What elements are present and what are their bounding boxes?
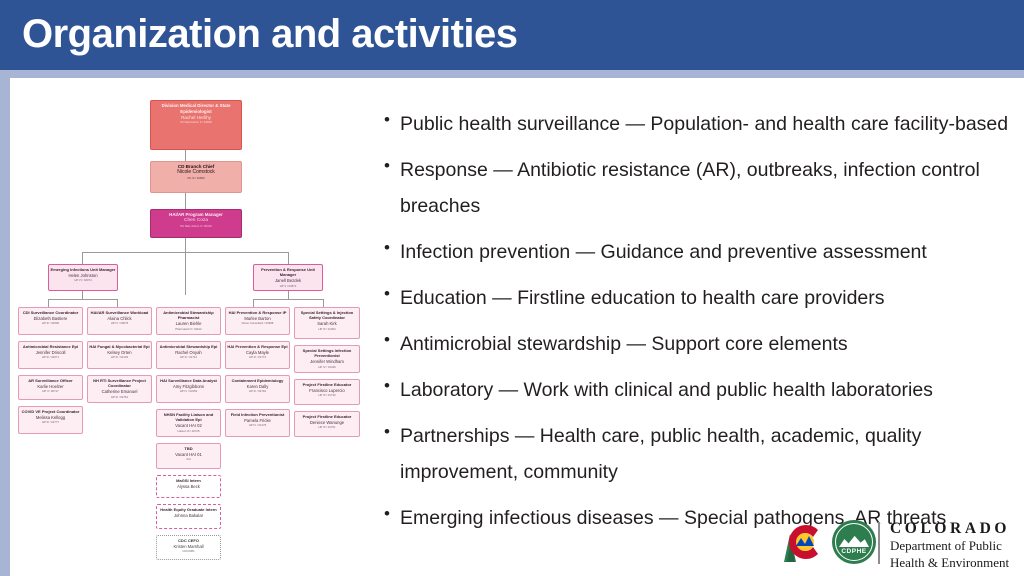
org-node-title: Division Medical Director & State Epidem… xyxy=(152,103,240,114)
org-node-hai-ar-program-manager[interactable]: HAI/AR Program Manager Chen Coza PH Misc… xyxy=(150,209,242,238)
logo-divider xyxy=(878,522,880,564)
org-node-code: HP III / 01739 xyxy=(296,393,358,397)
connector-line xyxy=(288,291,289,299)
org-node-cdi-surveillance-coordinator[interactable]: CDI Surveillance Coordinator Elizabeth B… xyxy=(18,307,83,335)
connector-line xyxy=(82,291,83,299)
org-node-project-firstline-educator-1[interactable]: Project Firstline Educator Francisco Lup… xyxy=(294,379,360,405)
connector-line xyxy=(48,299,49,307)
org-node-hai-surveillance-data-analyst[interactable]: HAI Surveillance Data Analyst Amy Fitzgi… xyxy=(156,375,221,403)
org-node-code: Liaison III / 02725 xyxy=(158,429,219,433)
list-item: • Antimicrobial stewardship — Support co… xyxy=(378,326,1018,362)
org-node-code: HP III / 02071 xyxy=(20,355,81,359)
org-node-code: HP III / 01761 xyxy=(296,425,358,429)
org-node-code: CDC0081 xyxy=(158,549,219,553)
org-node-code: HP III / 01774 xyxy=(227,355,288,359)
bullet-text: Response — Antibiotic resistance (AR), o… xyxy=(400,152,1018,224)
bullet-marker: • xyxy=(378,500,400,527)
cdphe-logo-lockup: CDPHE COLORADO Department of Public Heal… xyxy=(782,518,1016,570)
org-node-title: TBD xyxy=(158,446,219,451)
org-node-antimicrobial-resistance-epi[interactable]: Antimicrobial Resistance Epi Jennifer Dr… xyxy=(18,341,83,369)
bullet-marker: • xyxy=(378,106,400,133)
org-node-title: HAI/AR Surveillance Workload xyxy=(89,310,150,315)
org-node-code: HP III / 01712 xyxy=(158,355,219,359)
org-node-code: tbd xyxy=(158,457,219,461)
org-node-magsi-intern[interactable]: MaGSI Intern Alyssa Beck xyxy=(156,475,221,498)
bullet-marker: • xyxy=(378,418,400,445)
org-node-title: CDI Surveillance Coordinator xyxy=(20,310,81,315)
org-node-antimicrobial-stewardship-epi[interactable]: Antimicrobial Stewardship Epi Rachel Ony… xyxy=(156,341,221,369)
org-node-code: HP IV / 01379 xyxy=(227,423,288,427)
org-node-title: Antimicrobial Resistance Epi xyxy=(20,344,81,349)
list-item: • Education — Firstline education to hea… xyxy=(378,280,1018,316)
logo-dept-line-2: Health & Environment xyxy=(890,556,1010,571)
org-node-title: CDC CEFO xyxy=(158,538,219,543)
seal-label: CDPHE xyxy=(832,548,876,555)
connector-line xyxy=(185,252,186,295)
org-node-title: NHSN Facility Liaison and Validation Epi xyxy=(158,412,219,422)
org-node-hai-prevention-response-epi[interactable]: HAI Prevention & Response Epi Cayla Mayl… xyxy=(225,341,290,369)
org-node-prevention-response-unit-manager[interactable]: Prevention & Response Unit Manager Janel… xyxy=(253,264,323,291)
cdphe-seal-icon: CDPHE xyxy=(832,520,876,564)
org-node-title: HAI Fungal & Mycobacterial Epi xyxy=(89,344,150,349)
org-node-code: HP IV / 02452 xyxy=(158,389,219,393)
connector-line xyxy=(185,238,186,252)
org-node-title: HAI Prevention & Response Epi xyxy=(227,344,288,349)
org-node-code: HP III / 02794 xyxy=(227,389,288,393)
org-node-code: HP IV / 01426 xyxy=(296,365,358,369)
org-node-title: HAI Surveillance Data Analyst xyxy=(158,378,219,383)
bullet-marker: • xyxy=(378,152,400,179)
left-accent-band xyxy=(0,78,10,576)
org-node-emerging-infections-unit-manager[interactable]: Emerging Infections Unit Manager Helen J… xyxy=(48,264,118,291)
org-node-code: HP III / 02777 xyxy=(20,420,81,424)
org-node-title: Field Infection Preventionist xyxy=(227,412,288,417)
org-node-nhsn-facility-liaison[interactable]: NHSN Facility Liaison and Validation Epi… xyxy=(156,409,221,437)
org-node-code: PH III / 00689 xyxy=(152,176,240,180)
activities-bullet-list: • Public health surveillance — Populatio… xyxy=(378,106,1018,546)
org-node-code: HP IV / 09075 xyxy=(89,321,150,325)
page-title: Organization and activities xyxy=(22,14,518,54)
org-node-code: HP III / 02500 xyxy=(20,321,81,325)
org-node-nh-rti-surveillance-project-coordinator[interactable]: NH RTI Surveillance Project Coordinator … xyxy=(87,375,152,403)
logo-wordmark: COLORADO Department of Public Health & E… xyxy=(890,520,1010,570)
org-node-title: Project Firstline Educator xyxy=(296,414,358,419)
org-node-code: Pharmacist II / 01122 xyxy=(158,327,219,331)
org-node-division-medical-director[interactable]: Division Medical Director & State Epidem… xyxy=(150,100,242,150)
org-node-ar-surveillance-officer[interactable]: AR Surveillance Officer Karlie Hoelzer H… xyxy=(18,375,83,400)
list-item: • Public health surveillance — Populatio… xyxy=(378,106,1018,142)
org-node-title: MaGSI Intern xyxy=(158,478,219,483)
org-node-name: Johnna Bakalar xyxy=(158,513,219,519)
list-item: • Partnerships — Health care, public hea… xyxy=(378,418,1018,490)
org-node-antimicrobial-stewardship-pharmacist[interactable]: Antimicrobial Stewardship Pharmacist Lau… xyxy=(156,307,221,335)
org-node-code: PH Med Admin II / 02408 xyxy=(152,120,240,124)
header-divider-rule xyxy=(0,70,1024,78)
org-node-hai-fungal-mycobacterial-epi[interactable]: HAI Fungal & Mycobacterial Epi Kelsey Or… xyxy=(87,341,152,369)
org-node-title: Antimicrobial Stewardship Pharmacist xyxy=(158,310,219,320)
org-node-hai-ar-surveillance-workload[interactable]: HAI/AR Surveillance Workload Alaina Chli… xyxy=(87,307,152,335)
org-node-covid-ve-project-coordinator[interactable]: COVID VE Project Coordinator Melissa Kel… xyxy=(18,406,83,434)
org-node-cd-branch-chief[interactable]: CD Branch Chief Nicole Comstock PH III /… xyxy=(150,161,242,193)
connector-line xyxy=(288,252,289,264)
logo-dept-line-1: Department of Public xyxy=(890,539,1010,554)
bullet-marker: • xyxy=(378,372,400,399)
list-item: • Infection prevention — Guidance and pr… xyxy=(378,234,1018,270)
org-node-tbd-vacant[interactable]: TBD Vacant HAI 01 tbd xyxy=(156,443,221,469)
org-node-title: Emerging Infections Unit Manager xyxy=(50,267,116,272)
org-node-containment-epidemiology[interactable]: Containment Epidemiology Karen Dally HP … xyxy=(225,375,290,403)
org-node-code: HP III / 01394 xyxy=(296,327,358,331)
org-node-title: Antimicrobial Stewardship Epi xyxy=(158,344,219,349)
org-node-title: AR Surveillance Officer xyxy=(20,378,81,383)
bullet-text: Public health surveillance — Population-… xyxy=(400,106,1018,142)
connector-line xyxy=(48,299,117,300)
org-node-title: Containment Epidemiology xyxy=(227,378,288,383)
org-node-special-settings-injection-safety-coordinator[interactable]: Special Settings & Injection Safety Coor… xyxy=(294,307,360,339)
bullet-marker: • xyxy=(378,234,400,261)
org-node-title: COVID VE Project Coordinator xyxy=(20,409,81,414)
bullet-marker: • xyxy=(378,326,400,353)
org-node-title: Health Equity Graduate Intern xyxy=(158,507,219,512)
bullet-text: Infection prevention — Guidance and prev… xyxy=(400,234,1018,270)
bullet-text: Partnerships — Health care, public healt… xyxy=(400,418,1018,490)
connector-line xyxy=(185,193,186,209)
org-node-title: Prevention & Response Unit Manager xyxy=(255,267,321,277)
org-node-hai-prevention-response-ip[interactable]: HAI Prevention & Response IP Marlee Bart… xyxy=(225,307,290,335)
org-node-field-infection-preventionist[interactable]: Field Infection Preventionist Pamela Fri… xyxy=(225,409,290,437)
connector-line xyxy=(117,299,118,307)
colorado-state-logo-icon xyxy=(782,518,830,566)
bullet-text: Antimicrobial stewardship — Support core… xyxy=(400,326,1018,362)
list-item: • Response — Antibiotic resistance (AR),… xyxy=(378,152,1018,224)
org-node-code: HP II / 00717 xyxy=(20,389,81,393)
org-node-special-settings-infection-preventionist[interactable]: Special Settings Infection Preventionist… xyxy=(294,345,360,373)
bullet-text: Education — Firstline education to healt… xyxy=(400,280,1018,316)
org-node-code: HP III / 02761 xyxy=(89,395,150,399)
org-node-code: HP VI / 02074 xyxy=(50,278,116,282)
org-node-code: HP III / 02103 xyxy=(89,355,150,359)
connector-line xyxy=(253,299,323,300)
slide-header-bar: Organization and activities xyxy=(0,0,1024,70)
org-node-code: Nurse Consultant / 00908 xyxy=(227,321,288,325)
org-node-title: HAI/AR Program Manager xyxy=(152,212,240,218)
org-node-title: Project Firstline Educator xyxy=(296,382,358,387)
org-node-cdc-cefo[interactable]: CDC CEFO Kristen Marshall CDC0081 xyxy=(156,535,221,560)
organization-chart: Division Medical Director & State Epidem… xyxy=(10,95,375,575)
list-item: • Laboratory — Work with clinical and pu… xyxy=(378,372,1018,408)
org-node-title: Special Settings Infection Preventionist xyxy=(296,348,358,358)
bullet-marker: • xyxy=(378,280,400,307)
org-node-name: Alyssa Beck xyxy=(158,484,219,490)
bullet-text: Laboratory — Work with clinical and publ… xyxy=(400,372,1018,408)
org-node-title: Special Settings & Injection Safety Coor… xyxy=(296,310,358,320)
logo-state-name: COLORADO xyxy=(890,520,1010,537)
connector-line xyxy=(253,299,254,307)
connector-line xyxy=(323,299,324,307)
org-node-code: PH Misc Admin II / 00410 xyxy=(152,224,240,228)
org-node-health-equity-graduate-intern[interactable]: Health Equity Graduate Intern Johnna Bak… xyxy=(156,504,221,529)
org-node-title: HAI Prevention & Response IP xyxy=(227,310,288,315)
connector-line xyxy=(82,252,83,264)
org-node-project-firstline-educator-2[interactable]: Project Firstline Educator Deniece Wanun… xyxy=(294,411,360,437)
org-node-title: NH RTI Surveillance Project Coordinator xyxy=(89,378,150,388)
org-node-code: HP V / 02872 xyxy=(255,284,321,288)
